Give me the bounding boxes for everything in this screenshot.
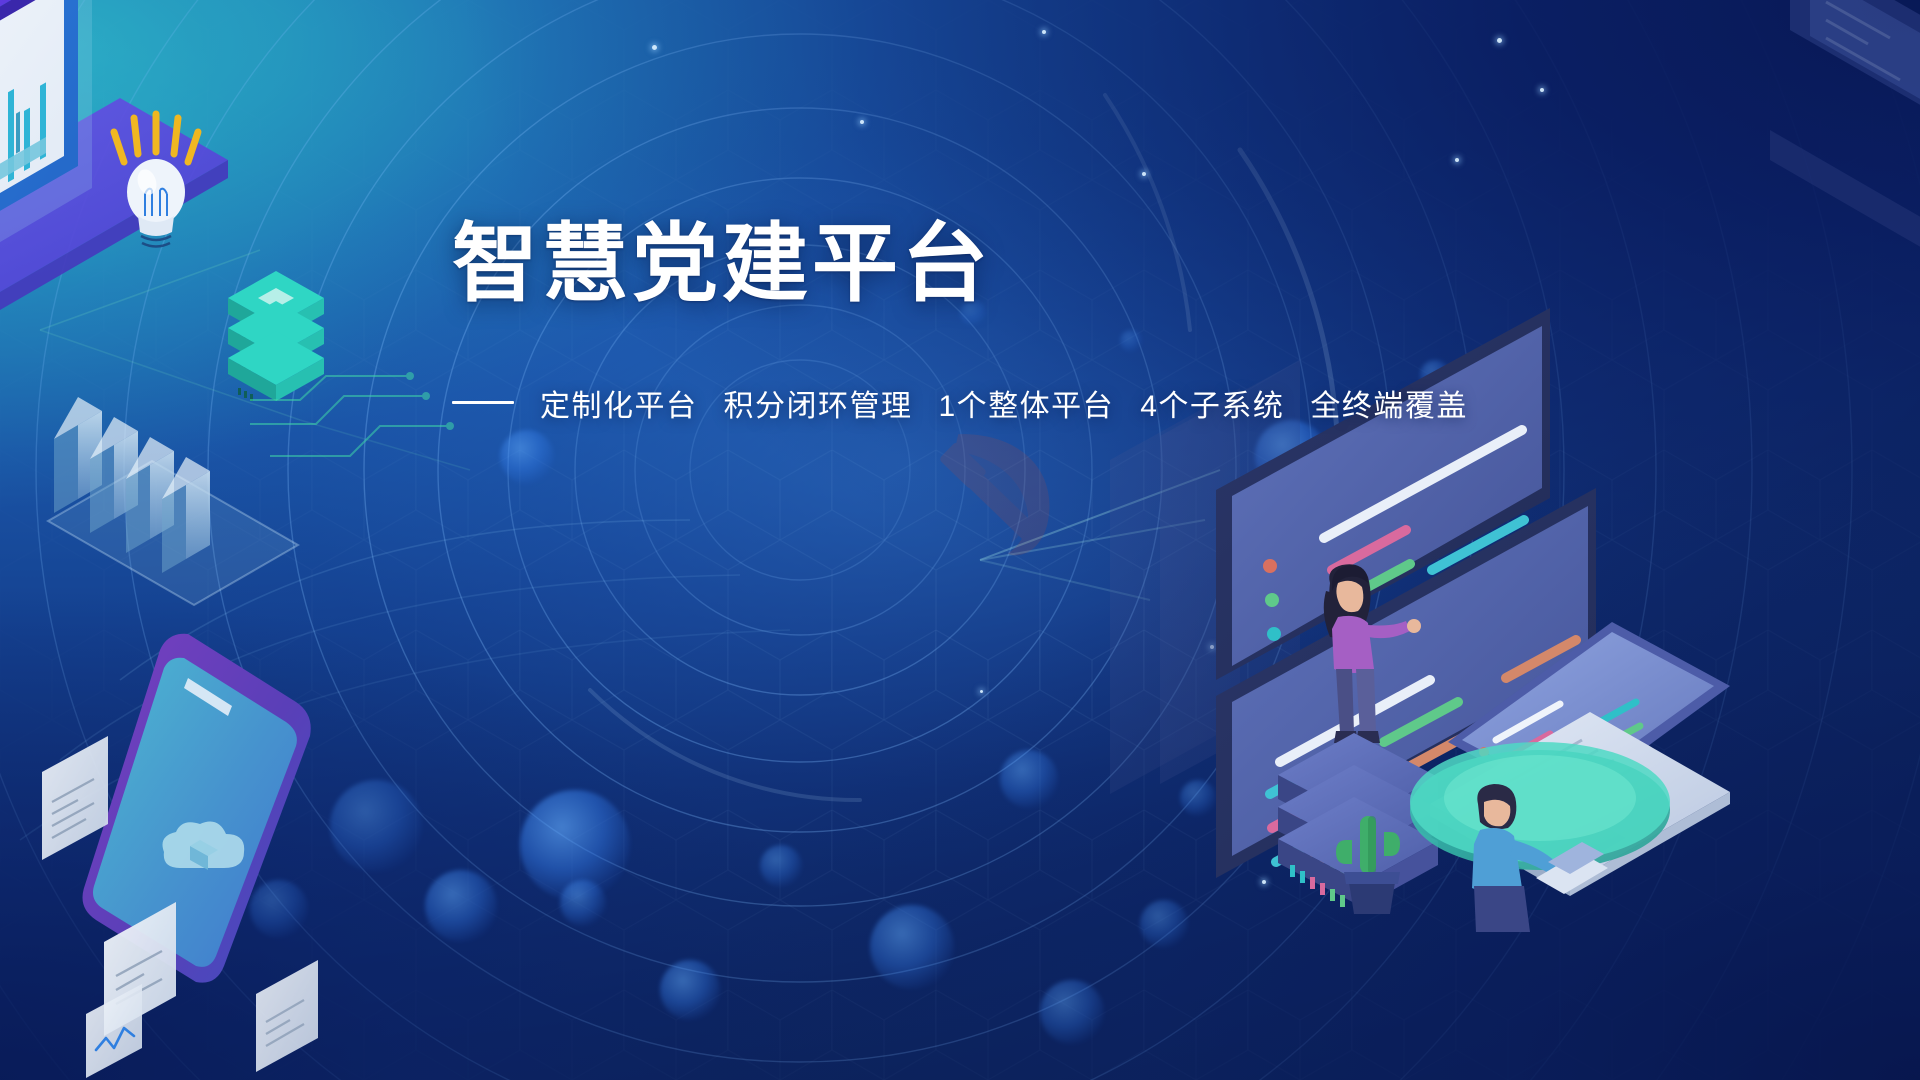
subtitle-dash-rule: [452, 401, 514, 404]
subtitle-item-1: 积分闭环管理: [724, 390, 913, 423]
subtitle-item-3: 4个子系统: [1140, 390, 1284, 423]
subtitle-item-4: 全终端覆盖: [1310, 390, 1468, 423]
subtitle-item-0: 定制化平台: [540, 390, 698, 423]
hero-text-block: 智慧党建平台 定制化平台积分闭环管理1个整体平台4个子系统全终端覆盖: [452, 218, 1552, 425]
subtitle-text: 定制化平台积分闭环管理1个整体平台4个子系统全终端覆盖: [540, 381, 1468, 425]
subtitle-row: 定制化平台积分闭环管理1个整体平台4个子系统全终端覆盖: [452, 381, 1552, 425]
party-emblem-watermark: [905, 400, 1095, 590]
page-title: 智慧党建平台: [452, 218, 1552, 311]
hero-banner: 智慧党建平台 定制化平台积分闭环管理1个整体平台4个子系统全终端覆盖: [0, 0, 1920, 1080]
subtitle-item-2: 1个整体平台: [939, 390, 1115, 423]
